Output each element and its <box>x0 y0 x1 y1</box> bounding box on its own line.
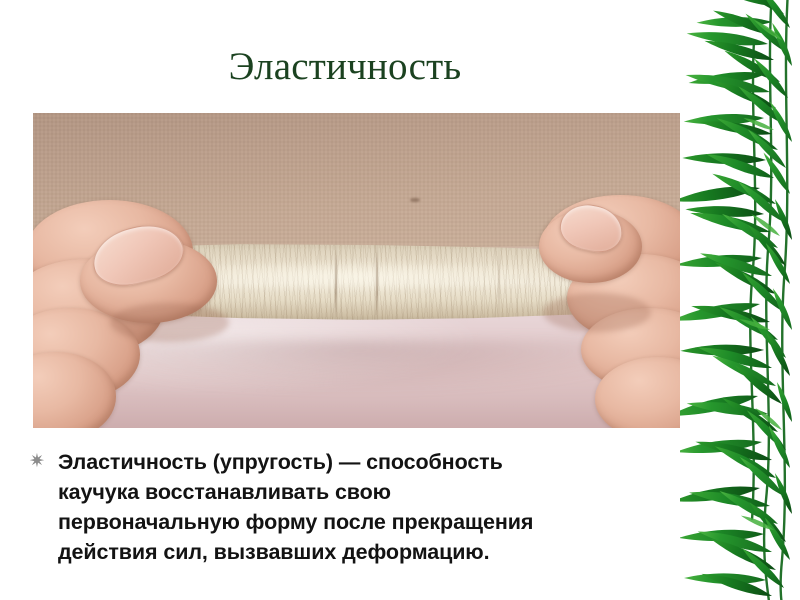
bamboo-leaves-graphic <box>680 0 800 600</box>
photo-rubber-strip-crease-left <box>335 242 337 320</box>
photo-rubber-strip <box>33 113 683 428</box>
content-line-3: первоначальную форму после прекращения <box>58 507 674 537</box>
photo-right-hand <box>469 195 684 428</box>
photo-left-hand <box>33 195 319 428</box>
page-title: Эластичность <box>40 44 650 90</box>
asterisk-six-point-icon: ✷ <box>24 451 50 473</box>
content-line-2: каучука восстанавливать свою <box>58 477 674 507</box>
bamboo-decoration <box>680 0 800 600</box>
photo-left-hand-shadow <box>110 303 230 342</box>
content-line-4: действия сил, вызвавших деформацию. <box>58 537 674 567</box>
slide-canvas: Эластичность <box>0 0 800 600</box>
content-text: Эластичность (упругость) — способность к… <box>24 447 674 567</box>
photo-rubber-strip-crease-right <box>376 242 378 320</box>
content-line-1: Эластичность (упругость) — способность <box>58 447 674 477</box>
content-bullet-block: ✷ Эластичность (упругость) — способность… <box>24 447 674 567</box>
